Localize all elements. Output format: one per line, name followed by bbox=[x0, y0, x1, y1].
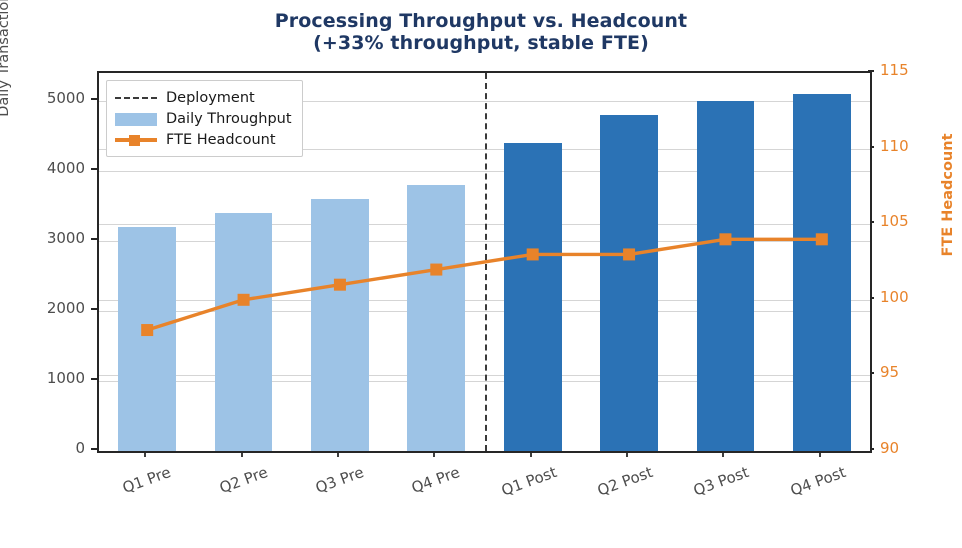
y-axis-left-tick-label: 5000 bbox=[0, 89, 85, 107]
fte-marker-q4-pre bbox=[430, 264, 442, 276]
chart-title-line1: Processing Throughput vs. Headcount bbox=[275, 10, 687, 32]
y-axis-right-tick-label: 115 bbox=[880, 61, 909, 79]
y-axis-right-tick-label: 100 bbox=[880, 288, 909, 306]
chart-subtitle: (+33% throughput, stable FTE) bbox=[0, 32, 962, 54]
legend-label-daily-throughput: Daily Throughput bbox=[166, 111, 292, 127]
x-axis-tick-label-q4-post: Q4 Post bbox=[654, 463, 848, 548]
fte-marker-q2-pre bbox=[238, 294, 250, 306]
y-axis-right-label: FTE Headcount bbox=[940, 45, 956, 345]
y-axis-left-tick-label: 4000 bbox=[0, 159, 85, 177]
legend-item-deployment: Deployment bbox=[115, 87, 292, 108]
legend-key-dashed-line-icon bbox=[115, 90, 157, 106]
legend-key-patch-icon bbox=[115, 111, 157, 127]
fte-marker-q3-post bbox=[719, 233, 731, 245]
fte-marker-q3-pre bbox=[334, 279, 346, 291]
y-axis-left-tick-label: 1000 bbox=[0, 369, 85, 387]
fte-marker-q2-post bbox=[623, 248, 635, 260]
fte-marker-q1-post bbox=[527, 248, 539, 260]
y-axis-left-tick-label: 2000 bbox=[0, 299, 85, 317]
y-axis-left-tick-label: 3000 bbox=[0, 229, 85, 247]
y-axis-right-tick-label: 90 bbox=[880, 439, 899, 457]
legend-label-fte-headcount: FTE Headcount bbox=[166, 132, 276, 148]
legend-item-daily-throughput: Daily Throughput bbox=[115, 108, 292, 129]
y-axis-left-tick-label: 0 bbox=[0, 439, 85, 457]
legend-item-fte-headcount: FTE Headcount bbox=[115, 129, 292, 150]
y-axis-right-tick-label: 105 bbox=[880, 212, 909, 230]
y-axis-left-label: Daily Transactions Processed bbox=[0, 0, 12, 172]
fte-marker-q1-pre bbox=[141, 324, 153, 336]
chart-figure: Processing Throughput vs. Headcount (+33… bbox=[0, 0, 962, 511]
y-axis-right-tick-label: 95 bbox=[880, 363, 899, 381]
legend-label-deployment: Deployment bbox=[166, 90, 255, 106]
fte-marker-q4-post bbox=[816, 233, 828, 245]
legend-key-line-marker-icon bbox=[115, 132, 157, 148]
chart-title: Processing Throughput vs. Headcount (+33… bbox=[0, 10, 962, 54]
chart-legend: Deployment Daily Throughput FTE Headcoun… bbox=[106, 80, 303, 157]
y-axis-right-tick-label: 110 bbox=[880, 137, 909, 155]
